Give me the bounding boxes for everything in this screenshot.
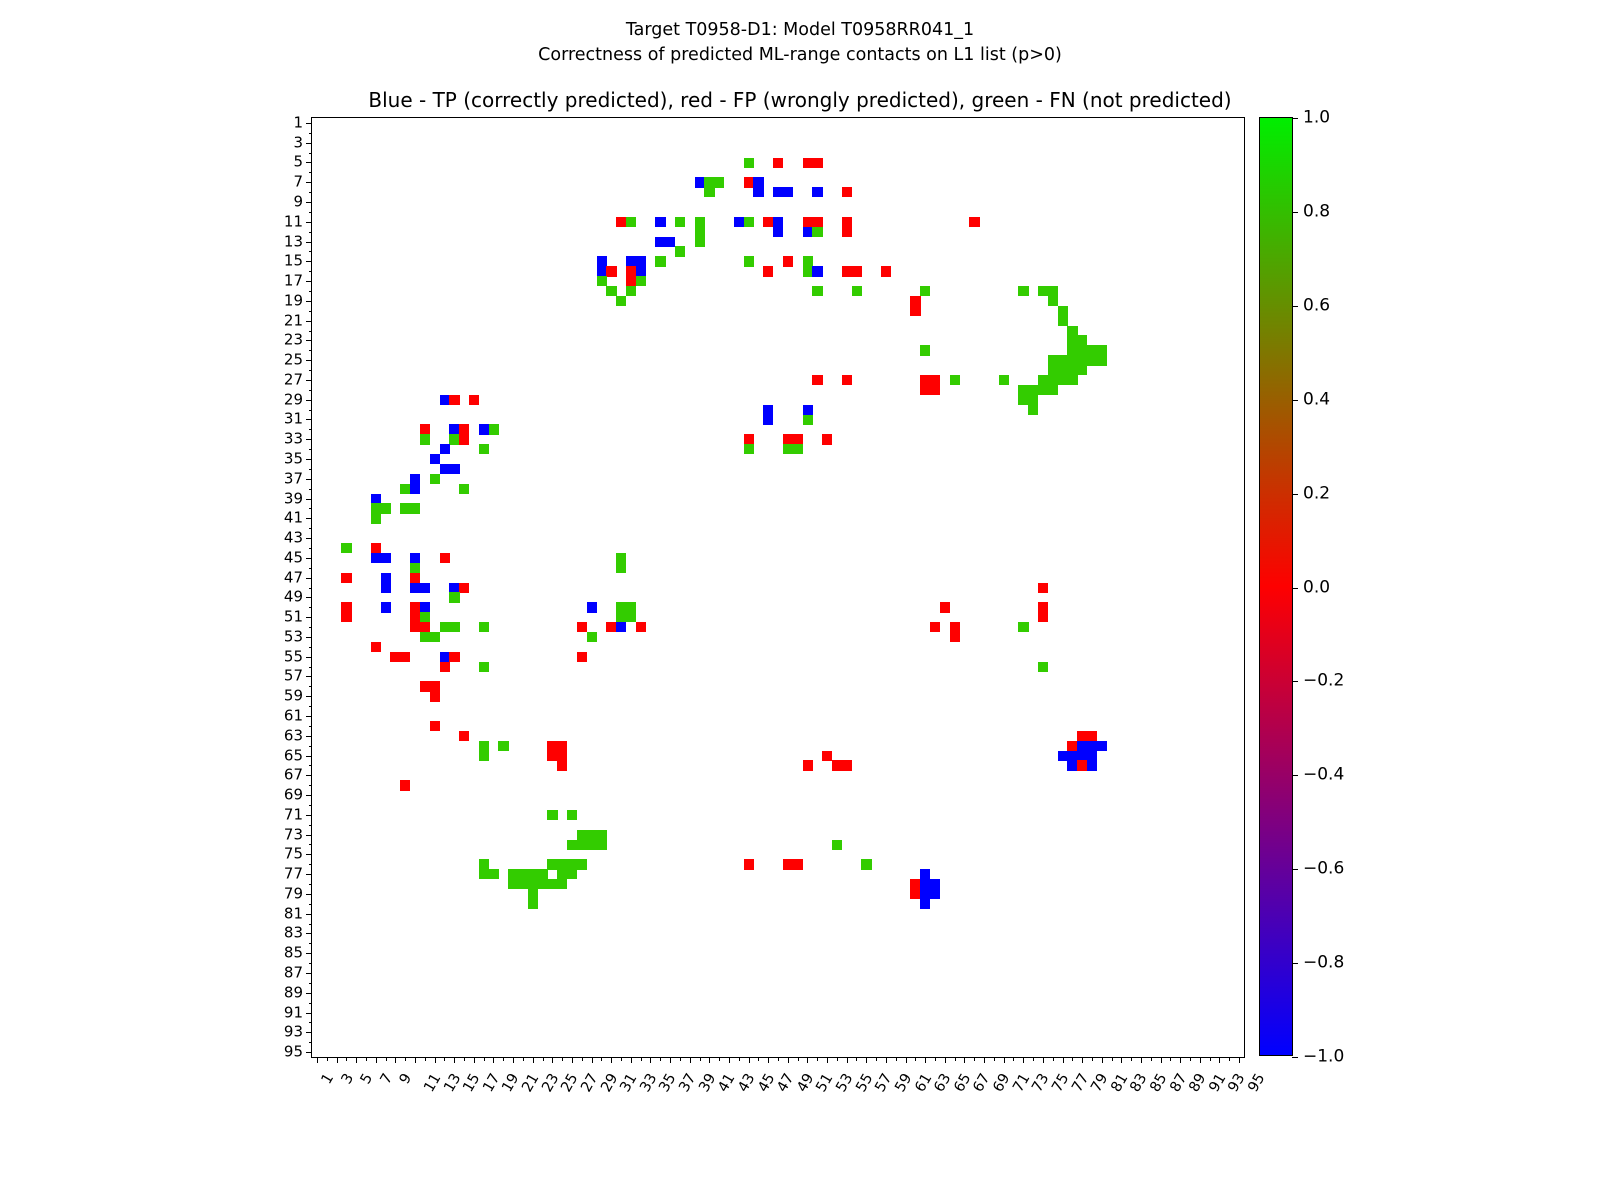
y-axis-tick-label: 95 bbox=[284, 1045, 303, 1060]
y-axis-tick bbox=[309, 963, 313, 964]
contact-cell bbox=[744, 859, 754, 869]
x-axis-tick-label: 5 bbox=[359, 1071, 376, 1086]
x-axis-tick-label: 21 bbox=[520, 1071, 542, 1094]
contact-cell bbox=[969, 217, 979, 227]
y-axis-tick bbox=[309, 825, 313, 826]
contact-cell bbox=[1028, 405, 1038, 415]
contact-cell bbox=[430, 454, 440, 464]
contact-cell bbox=[577, 830, 587, 840]
colorbar-tick bbox=[1292, 400, 1298, 401]
y-axis-tick bbox=[309, 291, 313, 292]
contact-cell bbox=[1018, 622, 1028, 632]
contact-cell bbox=[1058, 365, 1068, 375]
x-axis-tick bbox=[1102, 1057, 1103, 1063]
contact-cell bbox=[744, 444, 754, 454]
x-axis-tick bbox=[1043, 1057, 1044, 1063]
y-axis-tick-label: 39 bbox=[284, 491, 303, 506]
contact-cell bbox=[567, 859, 577, 869]
y-axis-tick bbox=[309, 805, 313, 806]
y-axis-tick-label: 75 bbox=[284, 847, 303, 862]
contact-cell bbox=[1087, 355, 1097, 365]
contact-cell bbox=[381, 573, 391, 583]
y-axis-tick bbox=[309, 686, 313, 687]
contact-cell bbox=[753, 187, 763, 197]
contact-cell bbox=[950, 622, 960, 632]
x-axis-tick bbox=[866, 1057, 867, 1063]
contact-cell bbox=[390, 652, 400, 662]
contact-cell bbox=[1077, 741, 1087, 751]
contact-cell bbox=[763, 405, 773, 415]
contact-cell bbox=[1058, 306, 1068, 316]
y-axis-tick-label: 61 bbox=[284, 708, 303, 723]
y-axis-tick-label: 45 bbox=[284, 550, 303, 565]
contact-cell bbox=[449, 395, 459, 405]
contact-cell bbox=[812, 375, 822, 385]
y-axis-tick bbox=[309, 429, 313, 430]
x-axis-tick bbox=[1190, 1057, 1191, 1061]
contact-cell bbox=[489, 869, 499, 879]
contact-cell bbox=[1048, 286, 1058, 296]
contact-cell bbox=[753, 177, 763, 187]
contact-cell bbox=[910, 879, 920, 889]
x-axis-tick-label: 29 bbox=[599, 1071, 621, 1094]
contact-cell bbox=[479, 741, 489, 751]
y-axis-tick-label: 43 bbox=[284, 531, 303, 546]
contact-cell bbox=[920, 385, 930, 395]
x-axis-tick-label: 39 bbox=[697, 1071, 719, 1094]
contact-cell bbox=[420, 434, 430, 444]
contact-cell bbox=[567, 840, 577, 850]
contact-cell bbox=[410, 484, 420, 494]
colorbar-tick-label: −0.2 bbox=[1303, 673, 1344, 690]
contact-cell bbox=[616, 217, 626, 227]
y-axis-tick bbox=[306, 578, 312, 579]
x-axis-tick bbox=[337, 1057, 338, 1063]
colorbar-tick bbox=[1292, 1057, 1298, 1058]
contact-cell bbox=[763, 415, 773, 425]
contact-cell bbox=[547, 810, 557, 820]
x-axis-tick bbox=[886, 1057, 887, 1063]
contact-cell bbox=[655, 256, 665, 266]
x-axis-tick-label: 61 bbox=[913, 1071, 935, 1094]
y-axis-tick bbox=[309, 588, 313, 589]
x-axis-tick-label: 35 bbox=[658, 1071, 680, 1094]
contact-cell bbox=[440, 652, 450, 662]
contact-cell bbox=[587, 632, 597, 642]
contact-cell bbox=[1048, 385, 1058, 395]
x-axis-tick bbox=[523, 1057, 524, 1061]
x-axis-tick-label: 1 bbox=[320, 1071, 337, 1086]
y-axis-tick-label: 25 bbox=[284, 353, 303, 368]
contact-cell bbox=[744, 158, 754, 168]
x-axis-tick-label: 47 bbox=[775, 1071, 797, 1094]
x-axis-tick-label: 55 bbox=[854, 1071, 876, 1094]
x-axis-tick bbox=[366, 1057, 367, 1061]
y-axis-tick bbox=[306, 696, 312, 697]
contact-cell bbox=[616, 622, 626, 632]
y-axis-tick bbox=[309, 1022, 313, 1023]
contact-cell bbox=[459, 434, 469, 444]
contact-cell bbox=[528, 869, 538, 879]
x-axis-tick bbox=[533, 1057, 534, 1063]
y-axis-tick-label: 49 bbox=[284, 590, 303, 605]
contact-cell bbox=[1077, 345, 1087, 355]
contact-cell bbox=[930, 385, 940, 395]
x-axis-tick-label: 75 bbox=[1050, 1071, 1072, 1094]
contact-cell bbox=[440, 464, 450, 474]
y-axis-tick-label: 3 bbox=[293, 135, 303, 150]
contact-cell bbox=[371, 503, 381, 513]
contact-cell bbox=[636, 276, 646, 286]
y-axis-tick-label: 81 bbox=[284, 906, 303, 921]
y-axis-tick bbox=[309, 410, 313, 411]
contact-cell bbox=[803, 217, 813, 227]
x-axis-tick bbox=[601, 1057, 602, 1061]
x-axis-tick bbox=[847, 1057, 848, 1063]
x-axis-tick bbox=[386, 1057, 387, 1061]
y-axis-tick bbox=[306, 419, 312, 420]
contact-cell bbox=[1067, 365, 1077, 375]
color-legend-text: Blue - TP (correctly predicted), red - F… bbox=[0, 88, 1600, 112]
x-axis-tick bbox=[1063, 1057, 1064, 1063]
contact-cell bbox=[822, 434, 832, 444]
contact-cell bbox=[577, 859, 587, 869]
y-axis-tick bbox=[309, 271, 313, 272]
contact-cell bbox=[420, 424, 430, 434]
x-axis-tick bbox=[435, 1057, 436, 1063]
x-axis-tick-label: 43 bbox=[736, 1071, 758, 1094]
y-axis-tick bbox=[306, 973, 312, 974]
y-axis-tick-label: 65 bbox=[284, 748, 303, 763]
y-axis-tick bbox=[306, 242, 312, 243]
x-axis-tick-label: 83 bbox=[1129, 1071, 1151, 1094]
contact-cell bbox=[440, 444, 450, 454]
x-axis-tick-label: 73 bbox=[1030, 1071, 1052, 1094]
contact-cell bbox=[626, 217, 636, 227]
x-axis-tick-label: 49 bbox=[795, 1071, 817, 1094]
title-line-2: Correctness of predicted ML-range contac… bbox=[0, 43, 1600, 68]
x-axis-tick bbox=[827, 1057, 828, 1063]
contact-cell bbox=[626, 266, 636, 276]
contact-cell bbox=[479, 662, 489, 672]
contact-cell bbox=[449, 434, 459, 444]
x-axis-tick bbox=[317, 1057, 318, 1063]
y-axis-tick bbox=[309, 568, 313, 569]
y-axis-tick-label: 69 bbox=[284, 788, 303, 803]
contact-cell bbox=[881, 266, 891, 276]
contact-cell bbox=[440, 622, 450, 632]
contact-cell bbox=[714, 177, 724, 187]
contact-cell bbox=[763, 266, 773, 276]
contact-cell bbox=[440, 553, 450, 563]
contact-cell bbox=[1038, 662, 1048, 672]
contact-cell bbox=[812, 227, 822, 237]
contact-cell bbox=[459, 484, 469, 494]
contact-cell bbox=[1077, 760, 1087, 770]
x-axis-tick bbox=[611, 1057, 612, 1063]
colorbar-gradient bbox=[1260, 118, 1292, 1055]
contact-cell bbox=[381, 602, 391, 612]
y-axis-tick bbox=[309, 508, 313, 509]
x-axis-tick bbox=[1141, 1057, 1142, 1063]
contact-cell bbox=[675, 246, 685, 256]
x-axis-tick bbox=[994, 1057, 995, 1061]
contact-cell bbox=[400, 780, 410, 790]
y-axis-tick bbox=[306, 281, 312, 282]
contact-cell bbox=[852, 286, 862, 296]
y-axis-tick-label: 73 bbox=[284, 827, 303, 842]
contact-cell bbox=[597, 276, 607, 286]
contact-cell bbox=[371, 513, 381, 523]
contact-cell bbox=[1038, 286, 1048, 296]
y-axis-tick-label: 89 bbox=[284, 985, 303, 1000]
y-axis-tick bbox=[306, 637, 312, 638]
contact-cell bbox=[626, 276, 636, 286]
y-axis-tick bbox=[306, 123, 312, 124]
contact-cell bbox=[1038, 385, 1048, 395]
x-axis-tick bbox=[1131, 1057, 1132, 1061]
contact-cell bbox=[597, 840, 607, 850]
y-axis-tick bbox=[309, 1042, 313, 1043]
x-axis-tick bbox=[1013, 1057, 1014, 1061]
contact-cell bbox=[842, 217, 852, 227]
x-axis-tick bbox=[1112, 1057, 1113, 1061]
y-axis-tick bbox=[306, 1052, 312, 1053]
contact-cell bbox=[459, 583, 469, 593]
y-axis-tick bbox=[306, 439, 312, 440]
y-axis-tick bbox=[306, 775, 312, 776]
x-axis-tick bbox=[592, 1057, 593, 1063]
x-axis-tick bbox=[876, 1057, 877, 1061]
x-axis-tick-label: 91 bbox=[1207, 1071, 1229, 1094]
contact-cell bbox=[381, 553, 391, 563]
x-axis-tick bbox=[395, 1057, 396, 1063]
contact-cell bbox=[1048, 296, 1058, 306]
contact-cell bbox=[479, 751, 489, 761]
y-axis-tick bbox=[309, 212, 313, 213]
y-axis-tick-label: 9 bbox=[293, 195, 303, 210]
contact-cell bbox=[1058, 316, 1068, 326]
x-axis-tick bbox=[464, 1057, 465, 1061]
contact-cell bbox=[371, 494, 381, 504]
y-axis-tick-label: 55 bbox=[284, 649, 303, 664]
contact-cell bbox=[459, 731, 469, 741]
contact-cell bbox=[498, 741, 508, 751]
contact-cell bbox=[616, 296, 626, 306]
contact-cell bbox=[655, 237, 665, 247]
y-axis-tick-label: 59 bbox=[284, 689, 303, 704]
y-axis-tick bbox=[306, 756, 312, 757]
contact-cell bbox=[832, 840, 842, 850]
contact-cell bbox=[479, 424, 489, 434]
colorbar-tick-label: 0.6 bbox=[1303, 297, 1330, 314]
y-axis-tick-label: 5 bbox=[293, 155, 303, 170]
contact-cell bbox=[920, 899, 930, 909]
contact-cell bbox=[1058, 355, 1068, 365]
y-axis-tick bbox=[306, 459, 312, 460]
x-axis-tick bbox=[690, 1057, 691, 1063]
contact-cell bbox=[793, 444, 803, 454]
colorbar-tick-label: −0.6 bbox=[1303, 861, 1344, 878]
colorbar: 1.00.80.60.40.20.0−0.2−0.4−0.6−0.8−1.0 bbox=[1259, 117, 1293, 1056]
contact-cell bbox=[793, 434, 803, 444]
contact-cell bbox=[616, 612, 626, 622]
y-axis-tick bbox=[306, 676, 312, 677]
contact-cell bbox=[400, 652, 410, 662]
x-axis-tick bbox=[1082, 1057, 1083, 1063]
y-axis-tick-label: 13 bbox=[284, 234, 303, 249]
contact-cell bbox=[803, 405, 813, 415]
x-axis-tick-label: 41 bbox=[717, 1071, 739, 1094]
x-axis-tick bbox=[768, 1057, 769, 1063]
y-axis-tick-label: 85 bbox=[284, 946, 303, 961]
y-axis-tick bbox=[309, 983, 313, 984]
contact-cell bbox=[1038, 375, 1048, 385]
contact-cell bbox=[704, 177, 714, 187]
y-axis-tick-label: 71 bbox=[284, 807, 303, 822]
x-axis-tick bbox=[503, 1057, 504, 1061]
contact-cell bbox=[803, 415, 813, 425]
contact-cell bbox=[449, 652, 459, 662]
x-axis-tick bbox=[837, 1057, 838, 1061]
contact-cell bbox=[557, 869, 567, 879]
contact-cell bbox=[479, 869, 489, 879]
y-axis-tick bbox=[306, 914, 312, 915]
contact-cell bbox=[950, 375, 960, 385]
contact-cell bbox=[1077, 335, 1087, 345]
y-axis-tick bbox=[306, 894, 312, 895]
x-axis-tick bbox=[670, 1057, 671, 1063]
y-axis-tick bbox=[309, 489, 313, 490]
contact-cell bbox=[636, 622, 646, 632]
contact-cell bbox=[763, 217, 773, 227]
colorbar-tick bbox=[1292, 588, 1298, 589]
colorbar-tick-label: 0.2 bbox=[1303, 485, 1330, 502]
x-axis-tick bbox=[376, 1057, 377, 1063]
contact-cell bbox=[587, 602, 597, 612]
x-axis-tick bbox=[543, 1057, 544, 1061]
figure-root: Target T0958-D1: Model T0958RR041_1 Corr… bbox=[0, 0, 1600, 1200]
x-axis-tick bbox=[415, 1057, 416, 1063]
x-axis-tick bbox=[1004, 1057, 1005, 1063]
contact-cell bbox=[410, 583, 420, 593]
contact-cell bbox=[440, 662, 450, 672]
x-axis-tick bbox=[974, 1057, 975, 1061]
contact-cell bbox=[410, 474, 420, 484]
contact-cell bbox=[930, 879, 940, 889]
x-axis-tick bbox=[484, 1057, 485, 1061]
contact-cell bbox=[1028, 395, 1038, 405]
contact-cell bbox=[528, 879, 538, 889]
contact-cell bbox=[695, 217, 705, 227]
contact-cell bbox=[1067, 355, 1077, 365]
contact-cell bbox=[489, 424, 499, 434]
x-axis-tick bbox=[817, 1057, 818, 1061]
y-axis-tick bbox=[306, 597, 312, 598]
y-axis-tick bbox=[309, 844, 313, 845]
contact-cell bbox=[822, 751, 832, 761]
contact-cell bbox=[1058, 375, 1068, 385]
contact-cell bbox=[420, 622, 430, 632]
x-axis-tick-label: 95 bbox=[1246, 1071, 1268, 1094]
y-axis-tick bbox=[309, 765, 313, 766]
contact-cell bbox=[449, 464, 459, 474]
contact-cell bbox=[430, 691, 440, 701]
contact-map-axes[interactable]: 1357911131517192123252729313335373941434… bbox=[311, 117, 1245, 1058]
contact-cell bbox=[842, 375, 852, 385]
contact-cell bbox=[655, 217, 665, 227]
contact-cell bbox=[1067, 335, 1077, 345]
contact-cell bbox=[577, 840, 587, 850]
contact-cell bbox=[341, 602, 351, 612]
contact-cell bbox=[920, 345, 930, 355]
contact-cell bbox=[577, 622, 587, 632]
contact-cell bbox=[616, 563, 626, 573]
y-axis-tick bbox=[306, 953, 312, 954]
x-axis-tick bbox=[749, 1057, 750, 1063]
contact-cell bbox=[538, 879, 548, 889]
title-line-1: Target T0958-D1: Model T0958RR041_1 bbox=[0, 18, 1600, 43]
contact-cell bbox=[381, 503, 391, 513]
y-axis-tick bbox=[309, 528, 313, 529]
contact-cell bbox=[420, 602, 430, 612]
colorbar-tick bbox=[1292, 306, 1298, 307]
x-axis-tick bbox=[493, 1057, 494, 1063]
contact-cell bbox=[479, 622, 489, 632]
contact-cell bbox=[773, 187, 783, 197]
contact-cell bbox=[449, 583, 459, 593]
contact-cell bbox=[410, 612, 420, 622]
x-axis-tick bbox=[1072, 1057, 1073, 1061]
colorbar-tick bbox=[1292, 963, 1298, 964]
contact-cell bbox=[1038, 612, 1048, 622]
x-axis-tick-label: 85 bbox=[1148, 1071, 1170, 1094]
contact-cell bbox=[469, 395, 479, 405]
y-axis-tick bbox=[309, 331, 313, 332]
y-axis-tick-label: 51 bbox=[284, 610, 303, 625]
x-axis-tick bbox=[552, 1057, 553, 1063]
x-axis-tick bbox=[562, 1057, 563, 1061]
contact-cell bbox=[744, 434, 754, 444]
contact-cell bbox=[626, 256, 636, 266]
x-axis-tick-label: 71 bbox=[1011, 1071, 1033, 1094]
x-axis-tick bbox=[1200, 1057, 1201, 1063]
colorbar-tick bbox=[1292, 118, 1298, 119]
x-axis-tick bbox=[807, 1057, 808, 1063]
y-axis-tick-label: 17 bbox=[284, 274, 303, 289]
colorbar-tick bbox=[1292, 494, 1298, 495]
y-axis-tick bbox=[309, 746, 313, 747]
contact-cell bbox=[803, 760, 813, 770]
x-axis-tick bbox=[778, 1057, 779, 1061]
y-axis-tick bbox=[306, 558, 312, 559]
y-axis-tick-label: 29 bbox=[284, 392, 303, 407]
contact-cell bbox=[803, 158, 813, 168]
contact-cell bbox=[695, 227, 705, 237]
contact-cell bbox=[400, 484, 410, 494]
colorbar-tick-label: −1.0 bbox=[1303, 1049, 1344, 1066]
y-axis-tick bbox=[306, 815, 312, 816]
x-axis-tick bbox=[631, 1057, 632, 1063]
y-axis-tick bbox=[306, 736, 312, 737]
y-axis-tick bbox=[306, 617, 312, 618]
y-axis-tick-label: 31 bbox=[284, 412, 303, 427]
x-axis-tick bbox=[621, 1057, 622, 1061]
contact-cell bbox=[449, 592, 459, 602]
y-axis-tick bbox=[309, 449, 313, 450]
contact-cell bbox=[587, 830, 597, 840]
contact-cell bbox=[783, 859, 793, 869]
